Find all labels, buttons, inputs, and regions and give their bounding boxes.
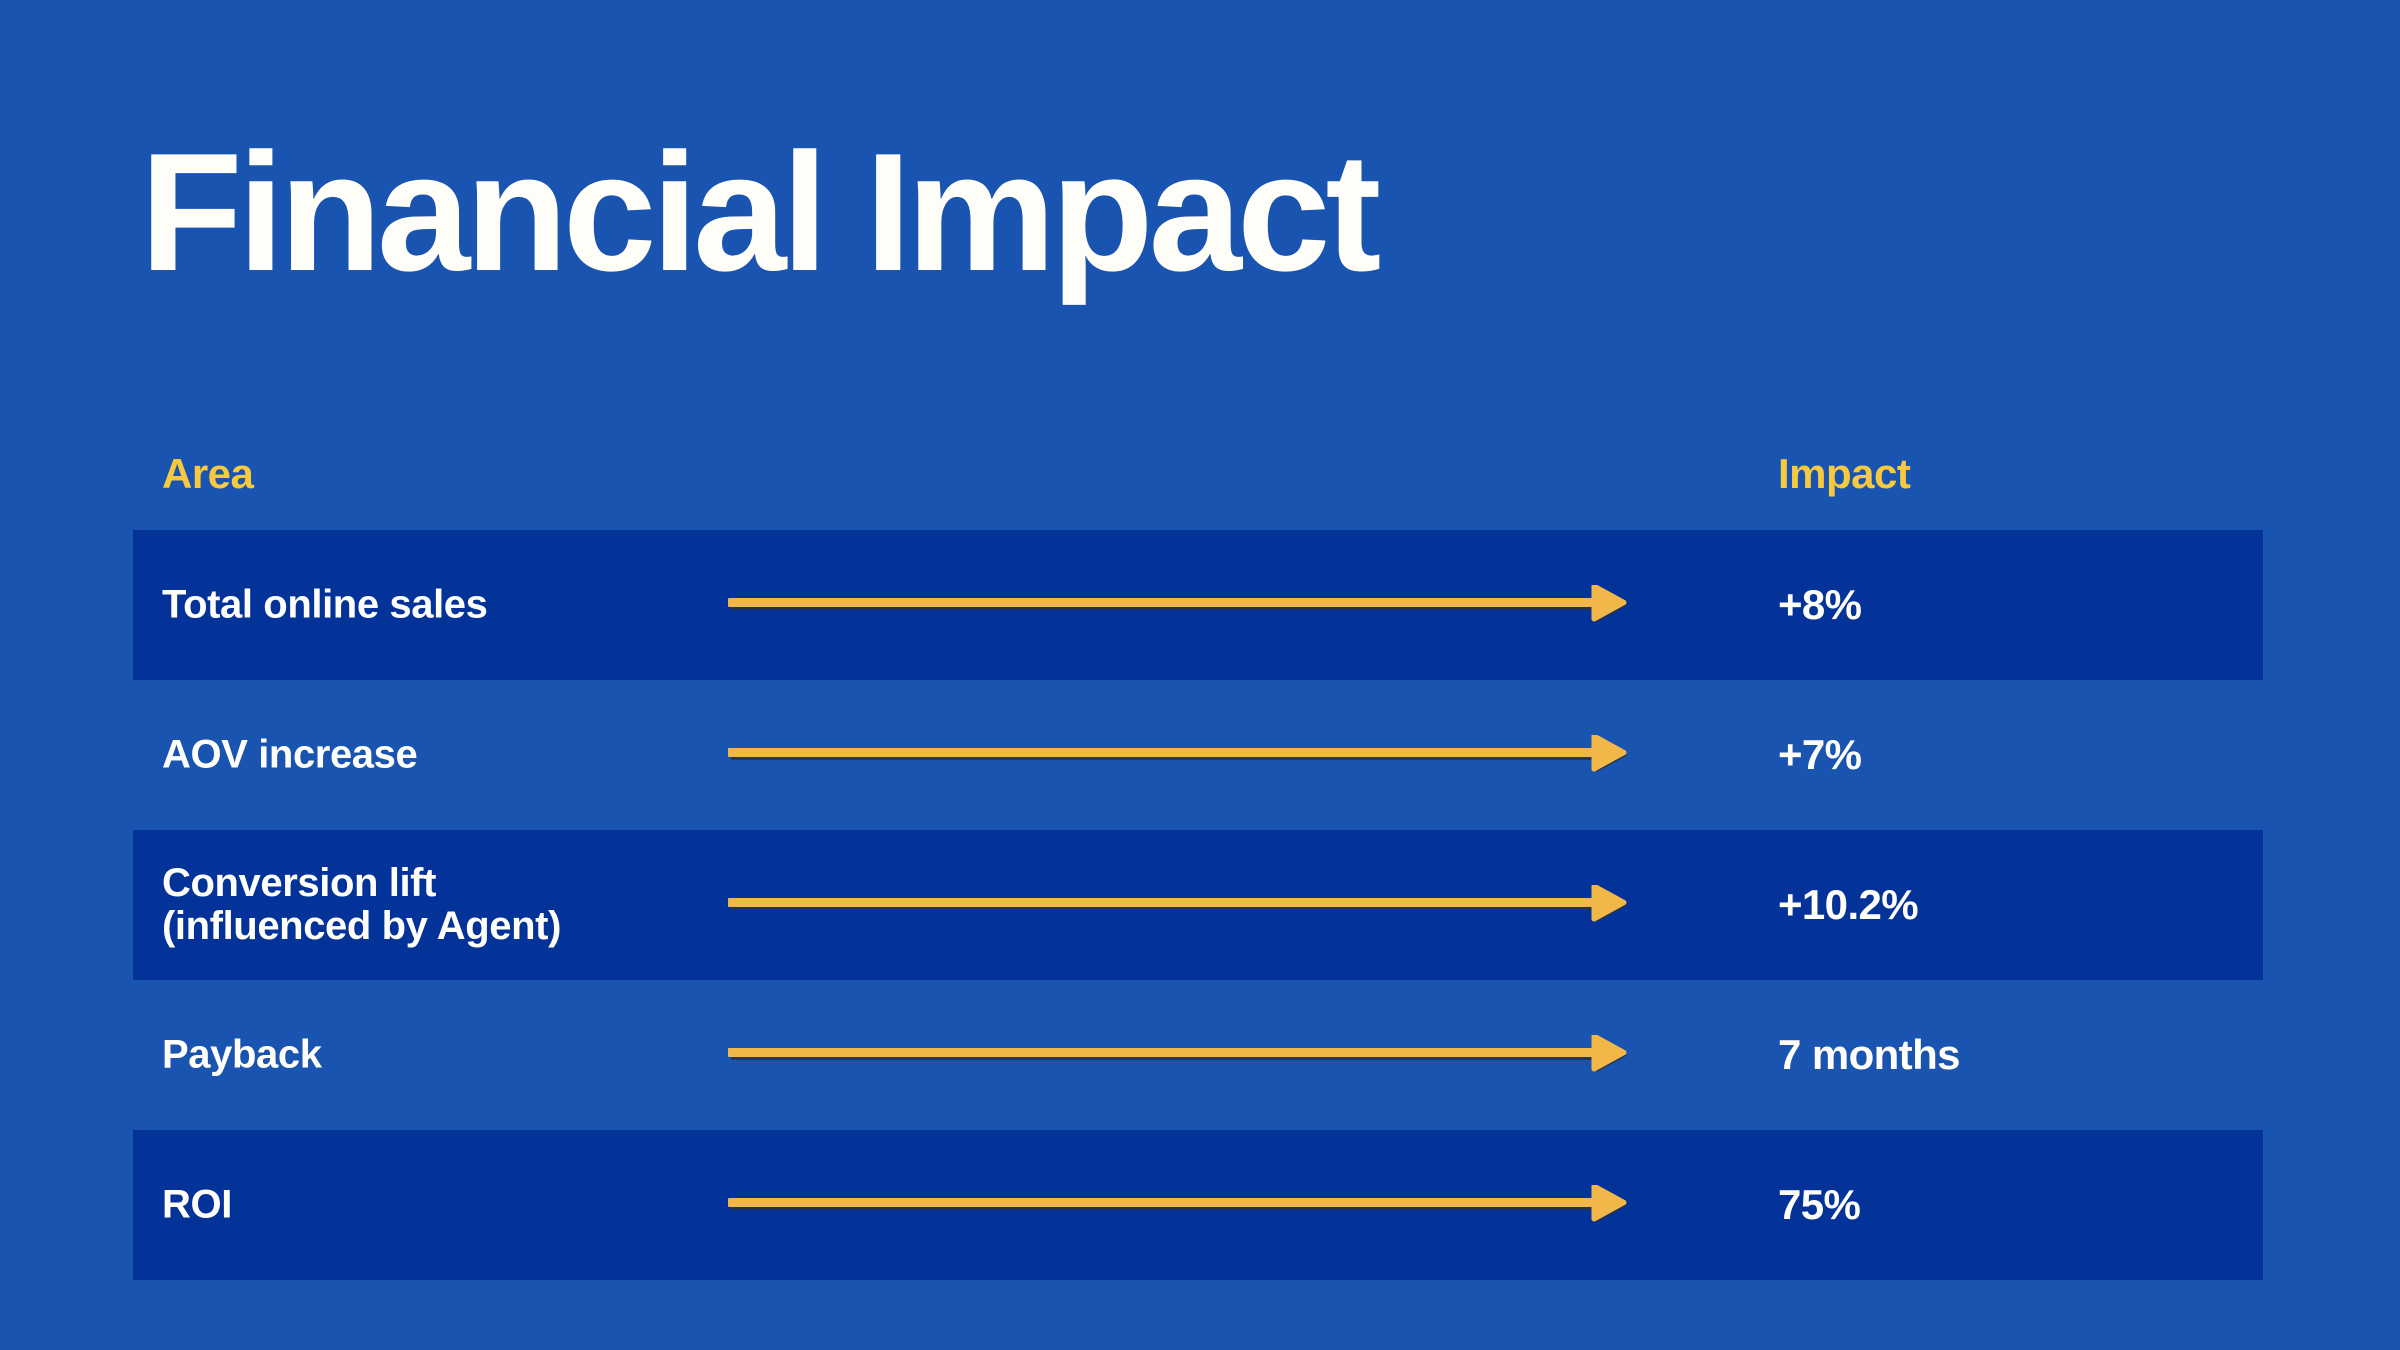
arrow-right-icon <box>728 585 1630 625</box>
table-body: Total online sales +8% <box>0 530 2400 1280</box>
table-row: ROI 75% <box>0 1130 2400 1280</box>
arrow-right-icon <box>728 1035 1630 1075</box>
arrow-right-icon <box>728 1185 1630 1225</box>
table-row: Conversion lift (influenced by Agent) +1… <box>0 830 2400 980</box>
column-header-area: Area <box>162 450 253 498</box>
table-row: Total online sales +8% <box>0 530 2400 680</box>
table-row: Payback 7 months <box>0 980 2400 1130</box>
arrow-right-icon <box>728 885 1630 925</box>
row-label: Conversion lift (influenced by Agent) <box>162 862 561 948</box>
page-title: Financial Impact <box>140 128 1376 296</box>
row-label: Total online sales <box>162 583 487 626</box>
impact-table: Area Impact Total online sales <box>0 430 2400 1280</box>
table-header-row: Area Impact <box>0 430 2400 530</box>
arrow-right-icon <box>728 735 1630 775</box>
row-impact-value: +10.2% <box>1778 881 1918 929</box>
row-label: AOV increase <box>162 733 417 776</box>
slide-financial-impact: Financial Impact Area Impact Total onlin… <box>0 0 2400 1350</box>
column-header-impact: Impact <box>1778 450 1910 498</box>
row-impact-value: +8% <box>1778 581 1861 629</box>
table-row: AOV increase +7% <box>0 680 2400 830</box>
row-impact-value: +7% <box>1778 731 1861 779</box>
row-label: Payback <box>162 1033 322 1076</box>
row-impact-value: 7 months <box>1778 1031 1960 1079</box>
row-label: ROI <box>162 1183 232 1226</box>
row-impact-value: 75% <box>1778 1181 1860 1229</box>
